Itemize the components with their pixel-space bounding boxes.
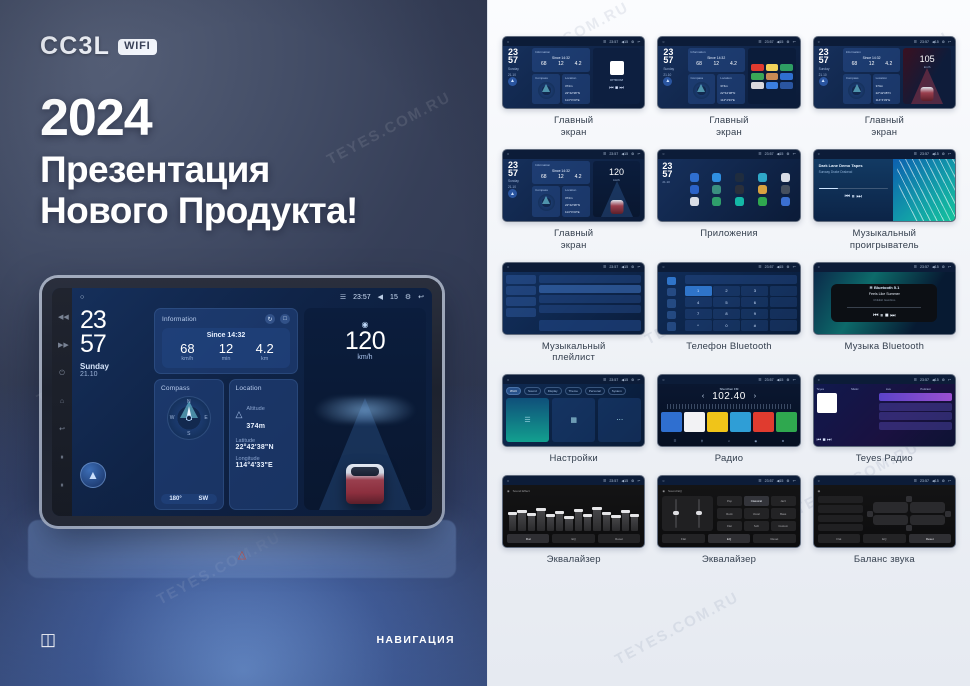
presentation-slide: TEYES.COM.RU TEYES.COM.RU TEYES.COM.RU C… xyxy=(0,0,970,686)
back-icon: ↩ xyxy=(793,152,796,156)
compass-label-e: E xyxy=(204,415,207,421)
screenshot-radio[interactable]: ○☰23:57◀15⚙↩Shenzhen FM‹102.40›☰⚲♫◉⚙ xyxy=(657,374,800,447)
screenshot-settings[interactable]: ○☰23:57◀15⚙↩Wi-FiSoundDisplayThemePerson… xyxy=(502,374,645,447)
mini-teyes-radio: TeyesMusicLivePodcast⏮ ■ ⏭ xyxy=(814,384,955,446)
wifi-icon: ☰ xyxy=(758,40,761,44)
widget-column: Information ↻ □ Since 14:32 xyxy=(154,308,298,510)
screenshot-equalizer-presets[interactable]: ○☰23:57◀15⚙↩◉Sound EQPopClassicalJazzRoc… xyxy=(657,475,800,548)
gallery-caption: Музыка Bluetooth xyxy=(845,341,925,353)
gallery-tile-music-player[interactable]: ○☰23:57◀15⚙↩Dark Lane Demo TapesSunway D… xyxy=(813,149,956,252)
back-icon: ↩ xyxy=(637,40,640,44)
wifi-icon: ☰ xyxy=(603,265,606,269)
gear-icon: ⚙ xyxy=(942,40,945,44)
latitude-value: 22°42'38"N xyxy=(236,444,292,451)
mini-media-column: 07:50 FM⏮ ■ ⏭ xyxy=(593,48,641,104)
gallery-caption: Главныйэкран xyxy=(865,115,904,139)
gear-icon: ⚙ xyxy=(631,479,634,483)
compass-label-n: N xyxy=(187,399,191,405)
layers-icon: ◫ xyxy=(40,631,56,648)
thumb-time: 23:57 xyxy=(609,378,618,382)
mini-clock: 235721.10 xyxy=(662,162,683,218)
thumb-time: 23:57 xyxy=(920,479,929,483)
mini-bluetooth-music: ⚛ Bluetooth 5.1Feels Like SummerChildish… xyxy=(814,272,955,334)
mini-compass-card: Compass xyxy=(688,74,716,104)
thumb-time: 23:57 xyxy=(609,479,618,483)
compass-direction: SW xyxy=(198,496,208,502)
gallery-caption: Эквалайзер xyxy=(702,554,756,566)
wifi-icon: ☰ xyxy=(340,293,346,301)
thumb-time: 23:57 xyxy=(609,152,618,156)
clock-date: 21.10 xyxy=(80,371,148,378)
thumb-time: 23:57 xyxy=(609,265,618,269)
screenshot-bluetooth-phone[interactable]: ○☰23:57◀15⚙↩123456789*0# xyxy=(657,262,800,335)
mini-speed: 120 xyxy=(593,167,641,177)
mini-clock: 2357Sunday21.10▲ xyxy=(508,161,529,217)
hazard-triangle-icon[interactable]: △ xyxy=(231,546,253,562)
navigation-arrow-icon: ▲ xyxy=(508,189,517,198)
wifi-icon: ☰ xyxy=(603,378,606,382)
clock-widget: 23 57 Sunday 21.10 ▲ xyxy=(80,308,148,510)
gallery-tile-bluetooth-music[interactable]: ○☰23:57◀15⚙↩⚛ Bluetooth 5.1Feels Like Su… xyxy=(813,262,956,365)
wifi-icon: ☰ xyxy=(603,40,606,44)
stat-speed: 68 km/h xyxy=(168,342,207,362)
back-icon: ↩ xyxy=(793,479,796,483)
hardware-key-strip[interactable]: ◀◀ ▶▶ ⏻ ⌂ ↩ ⏸ ⏸ xyxy=(52,288,72,516)
status-volume: 15 xyxy=(390,294,398,301)
gallery-caption: Радио xyxy=(715,453,743,465)
screenshot-home-screen-hud[interactable]: ○☰23:57◀15⚙↩2357Sunday21.10▲InformationS… xyxy=(502,149,645,222)
compass-dial: N S W E xyxy=(167,396,211,440)
mini-clock: 2357Sunday21.10▲ xyxy=(663,48,684,104)
home-icon: ○ xyxy=(818,40,820,44)
volume-icon: ◀15 xyxy=(932,40,939,44)
compass-heading: 180° xyxy=(169,496,181,502)
back-icon: ↩ xyxy=(948,152,951,156)
volume-icon: ◀15 xyxy=(777,479,784,483)
headline-block: 2024 Презентация Нового Продукта! xyxy=(40,92,460,232)
gallery-grid: ○☰23:57◀15⚙↩2357Sunday21.10▲InformationS… xyxy=(502,36,956,566)
mini-track-artist: Sunway Drake Drakeod xyxy=(819,170,888,174)
headline-line-1: Презентация xyxy=(40,149,460,190)
location-title: Location xyxy=(236,385,292,392)
mini-speed: 105 xyxy=(903,54,951,64)
screenshot-teyes-radio[interactable]: ○☰23:57◀15⚙↩TeyesMusicLivePodcast⏮ ■ ⏭ xyxy=(813,374,956,447)
back-icon: ↩ xyxy=(637,479,640,483)
stat-unit: km xyxy=(245,356,284,362)
thumb-status-bar: ○☰23:57◀15⚙↩ xyxy=(658,263,799,272)
gallery-caption: Музыкальныйплейлист xyxy=(542,341,606,365)
refresh-icon[interactable]: ↻ xyxy=(265,314,275,324)
home-icon: ○ xyxy=(662,479,664,483)
compass-label-w: W xyxy=(170,415,175,421)
thumb-time: 23:57 xyxy=(765,265,774,269)
gear-icon: ⚙ xyxy=(631,265,634,269)
gear-icon: ⚙ xyxy=(786,265,789,269)
volume-icon: ◀15 xyxy=(621,152,628,156)
screenshot-home-screen-media[interactable]: ○☰23:57◀15⚙↩2357Sunday21.10▲InformationS… xyxy=(502,36,645,109)
gallery-tile-radio[interactable]: ○☰23:57◀15⚙↩Shenzhen FM‹102.40›☰⚲♫◉⚙Ради… xyxy=(657,374,800,465)
thumb-status-bar: ○☰23:57◀15⚙↩ xyxy=(814,375,955,384)
mini-equalizer-presets: ◉Sound EQPopClassicalJazzRockVocalBassFl… xyxy=(658,485,799,547)
back-icon: ↩ xyxy=(948,378,951,382)
gear-icon: ⚙ xyxy=(942,152,945,156)
gear-icon: ⚙ xyxy=(942,479,945,483)
back-icon: ↩ xyxy=(637,152,640,156)
thumb-time: 23:57 xyxy=(920,378,929,382)
navigation-label: НАВИГАЦИЯ xyxy=(376,634,455,646)
mini-clock: 2357Sunday21.10▲ xyxy=(508,48,529,104)
screenshot-sound-balance[interactable]: ○☰23:57◀15⚙↩◉FlatEQReset xyxy=(813,475,956,548)
trip-since: Since 14:32 xyxy=(168,332,284,339)
head-unit-bezel: ◀◀ ▶▶ ⏻ ⌂ ↩ ⏸ ⏸ ○ ☰ 23:57 xyxy=(42,278,442,526)
wifi-icon: ☰ xyxy=(603,152,606,156)
wifi-icon: ☰ xyxy=(758,265,761,269)
back-icon: ↩ xyxy=(793,40,796,44)
clock-hours: 23 xyxy=(80,308,148,332)
gallery-tile-home-screen-drive[interactable]: ○☰23:57◀15⚙↩2357Sunday21.10▲InformationS… xyxy=(813,36,956,139)
mini-home-screen: 2357Sunday21.10▲InformationSince 14:3268… xyxy=(658,46,799,108)
mini-app-column xyxy=(748,48,796,104)
thumb-status-bar: ○☰23:57◀15⚙↩ xyxy=(814,263,955,272)
gallery-tile-home-screen-apps[interactable]: ○☰23:57◀15⚙↩2357Sunday21.10▲InformationS… xyxy=(657,36,800,139)
home-icon: ○ xyxy=(662,40,664,44)
volume-icon: ◀15 xyxy=(932,378,939,382)
gear-icon: ⚙ xyxy=(631,152,634,156)
mini-information-card: InformationSince 14:3268124.2 xyxy=(532,48,590,72)
mini-radio: Shenzhen FM‹102.40›☰⚲♫◉⚙ xyxy=(658,384,799,446)
bt-artist: Childish Gambino xyxy=(873,298,895,302)
gear-icon: ⚙ xyxy=(786,40,789,44)
car-dashboard: △ ◀◀ ▶▶ ⏻ ⌂ ↩ ⏸ ⏸ ○ xyxy=(42,278,442,578)
gallery-caption: Настройки xyxy=(549,453,597,465)
home-icon: ○ xyxy=(662,378,664,382)
back-icon: ↩ xyxy=(948,479,951,483)
brand-model: CC3L xyxy=(40,32,110,61)
gear-icon: ⚙ xyxy=(786,152,789,156)
back-icon: ↩ xyxy=(793,265,796,269)
mini-home-screen: 2357Sunday21.10▲InformationSince 14:3268… xyxy=(503,159,644,221)
thumb-status-bar: ○☰23:57◀15⚙↩ xyxy=(503,150,644,159)
mini-music-player: Dark Lane Demo TapesSunway Drake Drakeod… xyxy=(814,159,955,221)
volume-icon: ◀15 xyxy=(621,378,628,382)
gear-icon: ⚙ xyxy=(942,265,945,269)
gear-icon: ⚙ xyxy=(942,378,945,382)
thumb-time: 23:57 xyxy=(765,40,774,44)
stat-distance: 4.2 km xyxy=(245,342,284,362)
thumb-status-bar: ○☰23:57◀15⚙↩ xyxy=(814,476,955,485)
volume-icon: ◀15 xyxy=(777,40,784,44)
hero-panel: TEYES.COM.RU TEYES.COM.RU TEYES.COM.RU C… xyxy=(0,0,487,686)
volume-icon: ◀15 xyxy=(777,152,784,156)
back-icon[interactable]: ↩ xyxy=(418,293,424,301)
thumb-status-bar: ○☰23:57◀15⚙↩ xyxy=(658,476,799,485)
screen-content: ○ ☰ 23:57 ◀ 15 ⚙ ↩ xyxy=(72,288,432,516)
thumb-status-bar: ○☰23:57◀15⚙↩ xyxy=(503,476,644,485)
gallery-caption: Главныйэкран xyxy=(709,115,748,139)
gallery-tile-teyes-radio[interactable]: ○☰23:57◀15⚙↩TeyesMusicLivePodcast⏮ ■ ⏭Te… xyxy=(813,374,956,465)
volume-icon: ◀15 xyxy=(777,265,784,269)
volume-icon[interactable]: ◀ xyxy=(378,293,383,301)
headline-year: 2024 xyxy=(40,92,460,145)
stat-value: 12 xyxy=(207,342,246,356)
headline-line-2: Нового Продукта! xyxy=(40,190,460,231)
thumb-status-bar: ○☰23:57◀15⚙↩ xyxy=(503,263,644,272)
altitude-label: Altitude xyxy=(246,406,264,412)
gear-icon: ⚙ xyxy=(786,378,789,382)
thumb-status-bar: ○☰23:57◀15⚙↩ xyxy=(658,375,799,384)
brand-logo: CC3L WIFI xyxy=(40,32,157,61)
gallery-tile-sound-balance[interactable]: ○☰23:57◀15⚙↩◉FlatEQResetБаланс звука xyxy=(813,475,956,566)
compass-label-s: S xyxy=(187,431,190,437)
navigation-arrow-icon: ▲ xyxy=(508,77,517,86)
stat-duration: 12 min xyxy=(207,342,246,362)
stat-unit: min xyxy=(207,356,246,362)
mini-home-screen: 2357Sunday21.10▲InformationSince 14:3268… xyxy=(503,46,644,108)
hud-car-graphic xyxy=(346,464,384,504)
home-key-icon[interactable]: ⌂ xyxy=(58,398,66,406)
thumb-status-bar: ○☰23:57◀15⚙↩ xyxy=(503,37,644,46)
thumb-time: 23:57 xyxy=(765,479,774,483)
gallery-caption: Музыкальныйпроигрыватель xyxy=(850,228,919,252)
hud-speed-unit: km/h xyxy=(304,354,426,361)
gallery-tile-bluetooth-phone[interactable]: ○☰23:57◀15⚙↩123456789*0#Телефон Bluetoot… xyxy=(657,262,800,365)
mini-drive: 105km/h xyxy=(903,48,951,104)
bt-track: Feels Like Summer xyxy=(869,292,900,296)
mini-location-card: Location374m22°42'38"N114°4'33"E xyxy=(562,186,590,216)
screenshot-apps-grid[interactable]: ○☰23:57◀15⚙↩235721.10 xyxy=(657,149,800,222)
home-icon: ○ xyxy=(507,378,509,382)
volume-icon: ◀15 xyxy=(932,152,939,156)
home-icon: ○ xyxy=(818,378,820,382)
thumb-status-bar: ○☰23:57◀15⚙↩ xyxy=(814,37,955,46)
thumb-time: 23:57 xyxy=(765,152,774,156)
compass-hub xyxy=(186,415,192,421)
compass-title: Compass xyxy=(161,385,217,392)
information-title: Information xyxy=(162,316,197,323)
volume-icon: ◀15 xyxy=(932,265,939,269)
back-icon: ↩ xyxy=(948,265,951,269)
compass-readout: 180° SW xyxy=(161,494,217,504)
home-icon: ○ xyxy=(818,479,820,483)
gallery-caption: Главныйэкран xyxy=(554,228,593,252)
hud-speed-value: 120 xyxy=(304,329,426,354)
wifi-icon: ☰ xyxy=(603,479,606,483)
gallery-tile-home-screen-hud[interactable]: ○☰23:57◀15⚙↩2357Sunday21.10▲InformationS… xyxy=(502,149,645,252)
clock-minutes: 57 xyxy=(80,332,148,356)
volume-icon: ◀15 xyxy=(621,479,628,483)
location-card[interactable]: Location △ Altitude 374m xyxy=(229,379,299,510)
radio-frequency: 102.40 xyxy=(712,391,746,402)
prev-key-icon[interactable]: ◀◀ xyxy=(58,314,66,322)
screenshot-gallery: TEYES.COM.RU TEYES.COM.RU TEYES.COM.RU T… xyxy=(487,0,970,686)
volume-icon: ◀15 xyxy=(932,479,939,483)
mini-location-card: Location374m22°42'38"N114°4'33"E xyxy=(717,74,745,104)
screenshot-home-screen-apps[interactable]: ○☰23:57◀15⚙↩2357Sunday21.10▲InformationS… xyxy=(657,36,800,109)
stat-value: 4.2 xyxy=(245,342,284,356)
stat-unit: km/h xyxy=(168,356,207,362)
thumb-time: 23:57 xyxy=(920,40,929,44)
status-bar: ○ ☰ 23:57 ◀ 15 ⚙ ↩ xyxy=(72,288,432,306)
back-icon: ↩ xyxy=(637,378,640,382)
navigation-arrow-icon: ▲ xyxy=(819,77,828,86)
longitude-value: 114°4'33"E xyxy=(236,462,292,469)
gallery-caption: Баланс звука xyxy=(854,554,915,566)
thumb-status-bar: ○☰23:57◀15⚙↩ xyxy=(658,37,799,46)
screenshot-equalizer-bands[interactable]: ○☰23:57◀15⚙↩◉Sound EffectFlatEQReset xyxy=(502,475,645,548)
back-icon: ↩ xyxy=(637,265,640,269)
wifi-icon: ☰ xyxy=(758,378,761,382)
gallery-tile-equalizer-bands[interactable]: ○☰23:57◀15⚙↩◉Sound EffectFlatEQResetЭква… xyxy=(502,475,645,566)
screenshot-music-playlist[interactable]: ○☰23:57◀15⚙↩ xyxy=(502,262,645,335)
gallery-tile-apps-grid[interactable]: ○☰23:57◀15⚙↩235721.10Приложения xyxy=(657,149,800,252)
navigation-arrow-icon[interactable]: ▲ xyxy=(80,462,106,488)
volume-down-key-icon[interactable]: ⏸ xyxy=(58,454,66,462)
wifi-icon: ☰ xyxy=(914,378,917,382)
driving-hud-card[interactable]: ◉ 120 km/h xyxy=(304,308,426,510)
mini-clock: 2357Sunday21.10▲ xyxy=(819,48,840,104)
gear-icon[interactable]: ⚙ xyxy=(405,293,411,301)
mini-compass-card: Compass xyxy=(532,186,560,216)
volume-up-key-icon[interactable]: ⏸ xyxy=(58,482,66,490)
gear-icon: ⚙ xyxy=(631,40,634,44)
gallery-tile-settings[interactable]: ○☰23:57◀15⚙↩Wi-FiSoundDisplayThemePerson… xyxy=(502,374,645,465)
mountain-icon: △ xyxy=(236,409,243,420)
navigation-arrow-icon: ▲ xyxy=(663,77,672,86)
mini-apps-screen: 235721.10 xyxy=(658,159,799,221)
mini-information-card: InformationSince 14:3268124.2 xyxy=(688,48,746,72)
home-icon[interactable]: ○ xyxy=(80,294,84,301)
back-key-icon[interactable]: ↩ xyxy=(58,426,66,434)
screenshot-music-player[interactable]: ○☰23:57◀15⚙↩Dark Lane Demo TapesSunway D… xyxy=(813,149,956,222)
mini-sound-balance: ◉FlatEQReset xyxy=(814,485,955,547)
wifi-icon: ☰ xyxy=(914,152,917,156)
home-screen: 23 57 Sunday 21.10 ▲ Information xyxy=(72,306,432,516)
mini-home-screen: 2357Sunday21.10▲InformationSince 14:3268… xyxy=(814,46,955,108)
gallery-tile-equalizer-presets[interactable]: ○☰23:57◀15⚙↩◉Sound EQPopClassicalJazzRoc… xyxy=(657,475,800,566)
mini-location-card: Location374m22°42'38"N114°4'33"E xyxy=(873,74,901,104)
home-icon: ○ xyxy=(662,265,664,269)
mini-compass-card: Compass xyxy=(532,74,560,104)
information-card[interactable]: Information ↻ □ Since 14:32 xyxy=(154,308,298,374)
mini-equalizer-bands: ◉Sound EffectFlatEQReset xyxy=(503,485,644,547)
mini-information-card: InformationSince 14:3268124.2 xyxy=(532,161,590,185)
clock-weekday: Sunday xyxy=(80,362,148,371)
gallery-tile-home-screen-media[interactable]: ○☰23:57◀15⚙↩2357Sunday21.10▲InformationS… xyxy=(502,36,645,139)
bluetooth-version: ⚛ Bluetooth 5.1 xyxy=(869,285,899,290)
thumb-time: 23:57 xyxy=(609,40,618,44)
mini-compass-card: Compass xyxy=(843,74,871,104)
hero-footer: ◫ НАВИГАЦИЯ xyxy=(40,631,455,648)
gallery-caption: Эквалайзер xyxy=(547,554,601,566)
mini-bluetooth-phone: 123456789*0# xyxy=(658,272,799,334)
hud-horizon-glow xyxy=(304,397,426,423)
stat-value: 68 xyxy=(168,342,207,356)
screenshot-home-screen-drive[interactable]: ○☰23:57◀15⚙↩2357Sunday21.10▲InformationS… xyxy=(813,36,956,109)
status-time: 23:57 xyxy=(353,294,371,301)
thumb-time: 23:57 xyxy=(920,152,929,156)
mini-settings: Wi-FiSoundDisplayThemePersonalSystem☰▦⋯ xyxy=(503,384,644,446)
volume-icon: ◀15 xyxy=(621,40,628,44)
home-icon: ○ xyxy=(818,152,820,156)
next-key-icon[interactable]: ▶▶ xyxy=(58,342,66,350)
mini-information-card: InformationSince 14:3268124.2 xyxy=(843,48,901,72)
thumb-status-bar: ○☰23:57◀15⚙↩ xyxy=(503,375,644,384)
watermark: TEYES.COM.RU xyxy=(612,589,742,669)
mini-location-card: Location374m22°42'38"N114°4'33"E xyxy=(562,74,590,104)
wifi-icon: ☰ xyxy=(914,479,917,483)
volume-icon: ◀15 xyxy=(777,378,784,382)
brand-wifi-badge: WIFI xyxy=(118,39,156,55)
home-icon: ○ xyxy=(507,152,509,156)
home-icon: ○ xyxy=(507,479,509,483)
gallery-caption: Teyes Радио xyxy=(856,453,913,465)
gallery-caption: Телефон Bluetooth xyxy=(686,341,772,353)
mini-track-title: Dark Lane Demo Tapes xyxy=(819,163,888,168)
hud-speed-block: ◉ 120 km/h xyxy=(304,320,426,361)
thumb-time: 23:57 xyxy=(765,378,774,382)
back-icon: ↩ xyxy=(793,378,796,382)
thumb-time: 23:57 xyxy=(920,265,929,269)
trip-stats: 68 km/h 12 min xyxy=(168,342,284,362)
thumb-status-bar: ○☰23:57◀15⚙↩ xyxy=(814,150,955,159)
volume-icon: ◀15 xyxy=(621,265,628,269)
altitude-value: 374m xyxy=(246,423,265,430)
power-key-icon[interactable]: ⏻ xyxy=(58,370,66,378)
home-icon: ○ xyxy=(662,152,664,156)
gear-icon: ⚙ xyxy=(786,479,789,483)
gallery-caption: Приложения xyxy=(700,228,758,240)
home-icon: ○ xyxy=(507,265,509,269)
head-unit-screen[interactable]: ◀◀ ▶▶ ⏻ ⌂ ↩ ⏸ ⏸ ○ ☰ 23:57 xyxy=(52,288,432,516)
compass-card[interactable]: Compass N S W E xyxy=(154,379,224,510)
gallery-tile-music-playlist[interactable]: ○☰23:57◀15⚙↩Музыкальныйплейлист xyxy=(502,262,645,365)
thumb-status-bar: ○☰23:57◀15⚙↩ xyxy=(658,150,799,159)
wifi-icon: ☰ xyxy=(914,265,917,269)
gallery-caption: Главныйэкран xyxy=(554,115,593,139)
mini-playlist xyxy=(503,272,644,334)
wifi-icon: ☰ xyxy=(914,40,917,44)
home-icon: ○ xyxy=(818,265,820,269)
mini-hud: 120km/h xyxy=(593,161,641,217)
back-icon: ↩ xyxy=(948,40,951,44)
home-icon: ○ xyxy=(507,40,509,44)
expand-icon[interactable]: □ xyxy=(280,314,290,324)
wifi-icon: ☰ xyxy=(758,152,761,156)
gear-icon: ⚙ xyxy=(631,378,634,382)
wifi-icon: ☰ xyxy=(758,479,761,483)
screenshot-bluetooth-music[interactable]: ○☰23:57◀15⚙↩⚛ Bluetooth 5.1Feels Like Su… xyxy=(813,262,956,335)
